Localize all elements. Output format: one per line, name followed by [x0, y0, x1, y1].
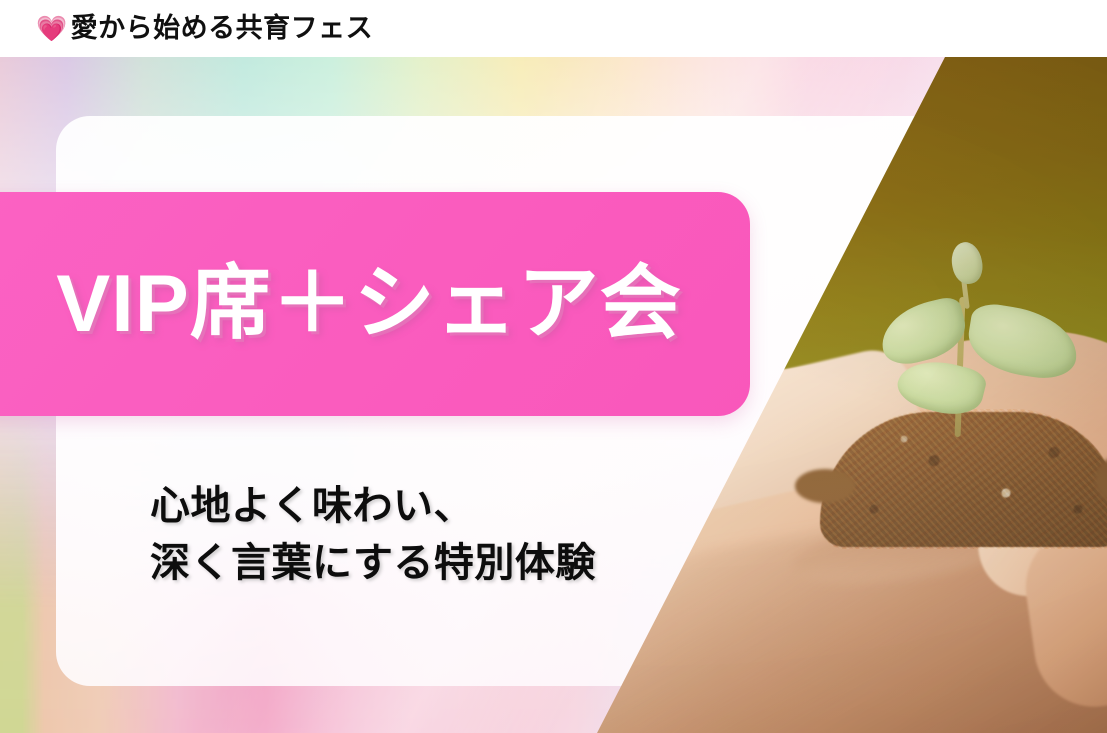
header-title: 💗 愛から始める共育フェス: [36, 15, 373, 42]
subtitle-line-2: 深く言葉にする特別体験: [150, 535, 596, 592]
subtitle-block: 心地よく味わい、 深く言葉にする特別体験: [150, 478, 596, 592]
headline-banner: VIP席＋シェア会: [0, 192, 750, 416]
pink-heart-icon: 💗: [36, 17, 68, 42]
poster-canvas: VIP席＋シェア会 心地よく味わい、 深く言葉にする特別体験 💗 愛から始める共…: [0, 0, 1107, 733]
headline-text: VIP席＋シェア会: [56, 264, 682, 345]
header-bar: 💗 愛から始める共育フェス: [0, 0, 1107, 57]
header-title-text: 愛から始める共育フェス: [71, 15, 374, 42]
subtitle-line-1: 心地よく味わい、: [150, 478, 596, 535]
